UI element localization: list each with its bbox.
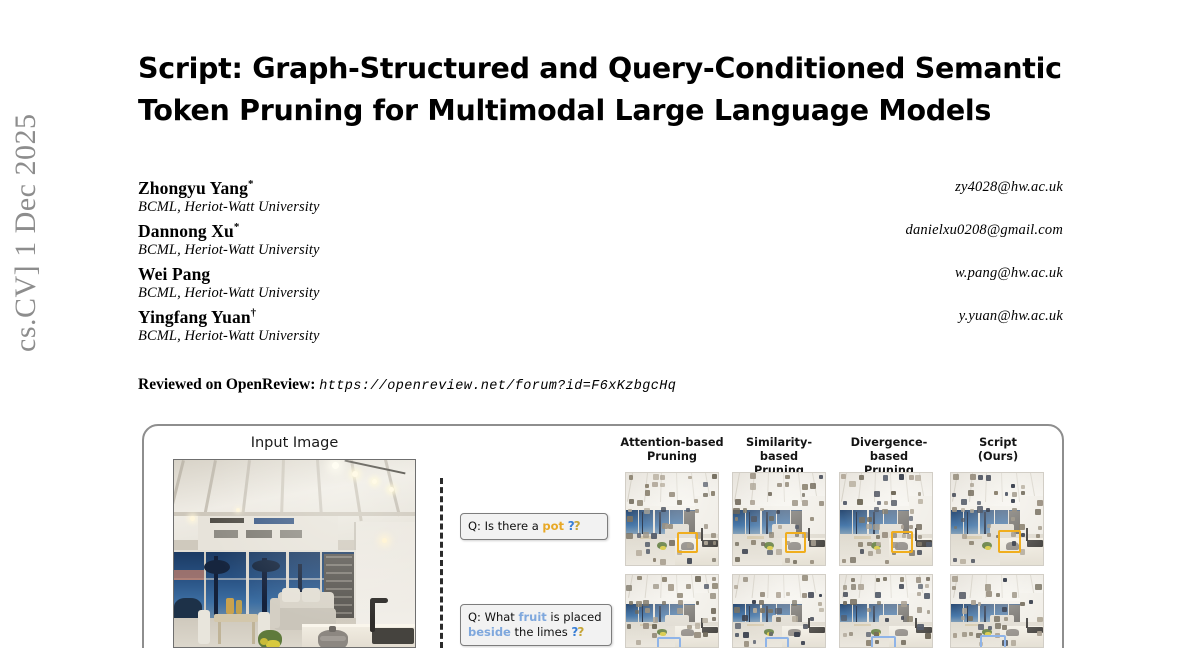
pruned-token (901, 616, 905, 620)
pruned-token (735, 557, 740, 562)
result-tile-divergence-row2 (839, 574, 933, 648)
pruned-token (637, 576, 642, 581)
pruned-token (1029, 600, 1033, 604)
question-suffix: the limes (511, 625, 568, 639)
author-name: Wei Pang (138, 264, 210, 284)
pruned-token (668, 584, 674, 590)
pruned-token (883, 475, 888, 480)
author-name: Zhongyu Yang* (138, 178, 254, 198)
pruned-token (761, 542, 765, 546)
pruned-token (652, 633, 657, 638)
pruned-token (867, 542, 871, 546)
pruned-token (792, 600, 798, 606)
author-block: Zhongyu Yang* zy4028@hw.ac.uk BCML, Heri… (138, 178, 1063, 350)
pruned-token (968, 616, 973, 621)
pruned-token (629, 475, 633, 479)
pruned-token (1038, 526, 1042, 530)
pruned-token (985, 584, 991, 590)
pruned-token (969, 632, 973, 636)
pruned-token (918, 535, 922, 539)
pruned-token (977, 501, 981, 505)
pruned-token (768, 609, 773, 614)
pruned-token (901, 525, 905, 529)
pruned-token (743, 508, 747, 512)
pruned-token (952, 507, 957, 512)
author-affiliation: BCML, Heriot-Watt University (138, 199, 1063, 221)
author-marker: * (234, 221, 240, 233)
highlight-box-fruit (980, 635, 1005, 648)
pruned-token (778, 525, 782, 529)
pruned-token (661, 507, 666, 512)
pruned-token (660, 483, 665, 488)
pruned-token (994, 491, 998, 495)
author-email[interactable]: y.yuan@hw.ac.uk (959, 308, 1063, 325)
pruned-token (712, 474, 717, 479)
highlight-box-fruit (765, 637, 788, 648)
pruned-token (752, 600, 756, 604)
pruned-token (961, 499, 967, 505)
pruned-token (627, 624, 631, 628)
pruned-token (704, 541, 708, 545)
pruned-token (994, 616, 999, 621)
pruned-token (802, 593, 807, 598)
pruned-token (918, 499, 924, 505)
pruned-token (786, 592, 790, 596)
result-tile-script-row2 (950, 574, 1044, 648)
pruned-token (962, 608, 968, 614)
pruned-token (792, 616, 798, 622)
question-keyword-2: beside (468, 625, 511, 639)
pruned-token (1035, 509, 1041, 515)
pruned-token (909, 516, 913, 520)
pruned-token (776, 617, 782, 623)
page-title: Script: Graph-Structured and Query-Condi… (138, 48, 1066, 132)
pruned-token (753, 640, 757, 644)
pruned-token (917, 607, 922, 612)
pruned-token (917, 542, 921, 546)
pruned-token (876, 542, 880, 546)
pruned-token (652, 624, 657, 629)
pruned-token (704, 584, 709, 589)
pruned-token (1004, 617, 1008, 621)
pruned-token (637, 500, 643, 506)
pruned-token (696, 601, 700, 605)
pruned-token (926, 542, 931, 547)
pruned-token (660, 559, 666, 565)
pruned-token (978, 475, 983, 480)
pruned-token (751, 516, 757, 522)
pruned-token (961, 508, 965, 512)
pruned-token (918, 584, 923, 589)
pruned-token (750, 483, 756, 489)
pruned-token (843, 601, 847, 605)
pruned-token (703, 482, 708, 487)
pruned-token (769, 632, 773, 636)
pruned-token (677, 500, 682, 505)
pruned-token (986, 475, 992, 481)
pruned-token (645, 608, 650, 613)
pruned-token (643, 623, 649, 629)
pruned-token (653, 558, 657, 562)
pruned-token (876, 578, 880, 582)
pruned-token (644, 508, 650, 514)
pruned-token (626, 585, 632, 591)
pruned-token (924, 593, 930, 599)
pruned-token (857, 499, 863, 505)
pruned-token (916, 577, 921, 582)
pruned-token (884, 501, 888, 505)
pruned-token (952, 493, 956, 497)
pruned-token (767, 550, 772, 555)
pruned-token (629, 499, 634, 504)
pruned-token (733, 508, 739, 514)
pruned-token (819, 608, 824, 613)
pruned-token (987, 524, 991, 528)
pruned-token (811, 540, 816, 545)
pruned-token (1035, 584, 1041, 590)
pruned-token (843, 585, 847, 589)
pruned-token (802, 493, 806, 497)
pruned-token (818, 602, 822, 606)
pruned-token (802, 500, 808, 506)
pruned-token (636, 550, 642, 556)
pruned-token (867, 608, 871, 612)
pruned-token (849, 481, 855, 487)
pruned-token (953, 474, 959, 480)
column-header-script-ours: Script (Ours) (948, 436, 1048, 464)
pruned-token (843, 592, 848, 597)
pruned-token (760, 508, 764, 512)
pruned-token (819, 594, 823, 598)
pruned-token (743, 577, 748, 582)
author-name: Dannong Xu* (138, 221, 239, 241)
pruned-token (996, 593, 1000, 597)
pruned-token (703, 493, 707, 497)
highlight-box-pot (998, 530, 1021, 553)
question-mark-icon: ?? (568, 519, 580, 533)
pruned-token (795, 525, 799, 529)
pruned-token (842, 559, 846, 563)
question-prefix: Q: What (468, 610, 518, 624)
pruned-token (961, 518, 965, 522)
pruned-token (917, 550, 922, 555)
pruned-token (1002, 607, 1007, 612)
pruned-token (643, 532, 649, 538)
pruned-token (626, 533, 632, 539)
pruned-token (750, 473, 756, 479)
pruned-token (712, 577, 716, 581)
pruned-token (810, 517, 814, 521)
pruned-token (916, 524, 922, 530)
author-row: Dannong Xu* danielxu0208@gmail.com (138, 221, 1063, 242)
question-middle: is placed (547, 610, 602, 624)
highlight-box-fruit (657, 637, 680, 648)
pruned-token (901, 640, 906, 645)
pruned-token (775, 608, 781, 614)
result-tile-script-row1 (950, 472, 1044, 566)
pruned-token (876, 549, 881, 554)
pruned-token (627, 516, 633, 522)
pruned-token (1012, 492, 1017, 497)
question-mark-icon: ?? (571, 625, 583, 639)
pruned-token (885, 618, 889, 622)
author-marker: * (248, 178, 254, 190)
pruned-token (808, 592, 814, 598)
pruned-token (735, 499, 741, 505)
pruned-token (988, 626, 992, 630)
pruned-token (742, 549, 748, 555)
question-keyword: pot (542, 519, 564, 533)
pruned-token (802, 575, 808, 581)
pruned-token (907, 616, 913, 622)
pruned-token (753, 608, 758, 613)
pruned-token (962, 534, 967, 539)
pruned-token (971, 600, 976, 605)
author-affiliation: BCML, Heriot-Watt University (138, 328, 1063, 350)
pruned-token (859, 517, 865, 523)
pruned-token (819, 475, 823, 479)
pruned-token (695, 509, 699, 513)
input-image-photo (173, 459, 416, 648)
pruned-token (851, 578, 855, 582)
pruned-token (926, 577, 930, 581)
pruned-token (1020, 602, 1024, 606)
pruned-token (710, 593, 716, 599)
pruned-token (662, 523, 668, 529)
author-name: Yingfang Yuan† (138, 307, 256, 327)
pruned-token (645, 484, 649, 488)
result-tile-attention-row1 (625, 472, 719, 566)
pruned-token (917, 624, 923, 630)
pruned-token (1002, 625, 1007, 630)
pruned-token (885, 560, 889, 564)
pruned-token (909, 525, 914, 530)
pruned-token (927, 610, 931, 614)
pruned-token (891, 500, 897, 506)
pruned-token (961, 616, 965, 620)
pruned-token (866, 632, 871, 637)
pruned-token (785, 482, 790, 487)
pruned-token (909, 475, 914, 480)
author-marker: † (251, 307, 257, 319)
pruned-token (1012, 508, 1017, 513)
pruned-token (873, 524, 879, 530)
pruned-token (1011, 640, 1016, 645)
pruned-token (917, 592, 921, 596)
author-row: Wei Pang w.pang@hw.ac.uk (138, 264, 1063, 285)
highlight-box-pot (891, 531, 914, 554)
pruned-token (703, 632, 708, 637)
pruned-token (925, 584, 929, 588)
pruned-token (662, 577, 667, 582)
pruned-token (694, 499, 698, 503)
pruned-token (875, 592, 881, 598)
pruned-token (968, 490, 974, 496)
pruned-token (735, 623, 741, 629)
pruned-token (1021, 533, 1025, 537)
pruned-token (850, 557, 856, 563)
pruned-token (1037, 631, 1042, 636)
author-email[interactable]: w.pang@hw.ac.uk (955, 265, 1063, 282)
pruned-token (910, 509, 915, 514)
result-tile-similarity-row2 (732, 574, 826, 648)
pruned-token (776, 510, 780, 514)
pruned-token (899, 474, 905, 480)
pruned-token (769, 516, 773, 520)
pruned-token (971, 559, 975, 563)
pruned-token (819, 501, 824, 506)
pruned-token (702, 618, 707, 623)
result-tile-divergence-row1 (839, 472, 933, 566)
pruned-token (882, 509, 888, 515)
pruned-token (734, 585, 738, 589)
pruned-token (652, 482, 658, 488)
highlight-box-fruit (871, 636, 895, 648)
pruned-token (978, 624, 984, 630)
input-image-label: Input Image (222, 435, 367, 451)
pruned-token (925, 633, 931, 639)
pruned-token (977, 506, 983, 512)
pruned-token (686, 508, 690, 512)
highlight-box-pot (677, 532, 699, 554)
pruned-token (785, 475, 790, 480)
pruned-token (735, 542, 739, 546)
pruned-token (1021, 485, 1025, 489)
pruned-token (653, 584, 659, 590)
result-tile-similarity-row1 (732, 472, 826, 566)
pruned-token (678, 600, 683, 605)
question-bubble-pot: Q: Is there a pot ?? (460, 513, 608, 540)
pruned-token (645, 542, 651, 548)
author-email[interactable]: zy4028@hw.ac.uk (955, 179, 1063, 196)
pruned-token (760, 592, 765, 597)
pruned-token (876, 535, 880, 539)
author-email[interactable]: danielxu0208@gmail.com (906, 222, 1063, 239)
author-affiliation: BCML, Heriot-Watt University (138, 242, 1063, 264)
pruned-token (668, 524, 673, 529)
pruned-token (1011, 517, 1015, 521)
pruned-token (877, 501, 881, 505)
pruned-token (843, 633, 847, 637)
pruned-token (635, 610, 639, 614)
pruned-token (970, 483, 974, 487)
pruned-token (711, 491, 715, 495)
pruned-token (645, 490, 651, 496)
pruned-token (759, 600, 764, 605)
pruned-token (704, 524, 709, 529)
pruned-token (962, 632, 967, 637)
pruned-token (751, 540, 756, 545)
pruned-token (858, 584, 864, 590)
question-bubble-fruit: Q: What fruit is placed beside the limes… (460, 604, 612, 646)
pruned-token (688, 476, 692, 480)
pruned-token (860, 549, 865, 554)
pruned-token (776, 549, 782, 555)
pruned-token (802, 484, 808, 490)
pruned-token (713, 541, 717, 545)
pruned-token (899, 584, 904, 589)
pruned-token (742, 615, 748, 621)
pruned-token (794, 632, 799, 637)
pruned-token (669, 492, 674, 497)
pruned-token (750, 500, 755, 505)
pruned-token (793, 560, 797, 564)
pruned-token (953, 633, 958, 638)
pruned-token (859, 475, 864, 480)
reviewed-on-openreview: Reviewed on OpenReview: https://openrevi… (138, 376, 676, 394)
pruned-token (735, 633, 739, 637)
pruned-token (858, 542, 863, 547)
pruned-token (792, 500, 798, 506)
pruned-token (803, 624, 808, 629)
pruned-token (995, 623, 1000, 628)
paper-page: cs.CV] 1 Dec 2025 Script: Graph-Structur… (0, 0, 1200, 648)
pruned-token (712, 558, 716, 562)
pruned-token (1003, 578, 1007, 582)
pruned-token (743, 632, 749, 638)
pruned-token (801, 641, 805, 645)
pruned-token (952, 576, 958, 582)
pruned-token (662, 601, 666, 605)
pruned-token (677, 608, 683, 614)
pruned-token (643, 600, 649, 606)
pruned-token (629, 601, 633, 605)
pruned-token (760, 608, 765, 613)
pruned-token (653, 474, 659, 480)
openreview-link[interactable]: https://openreview.net/forum?id=F6xKzbgc… (319, 379, 676, 394)
pruned-token (986, 591, 992, 597)
pruned-token (866, 524, 872, 530)
pruned-token (687, 625, 691, 629)
arxiv-stamp: cs.CV] 1 Dec 2025 (0, 4, 52, 352)
pruned-token (1036, 534, 1040, 538)
pruned-token (851, 584, 857, 590)
pruned-token (785, 558, 790, 563)
result-tile-attention-row2 (625, 574, 719, 648)
pruned-token (986, 508, 990, 512)
pruned-token (1021, 491, 1025, 495)
question-keyword: fruit (518, 610, 546, 624)
pruned-token (868, 551, 873, 556)
pruned-token (677, 593, 683, 599)
pruned-token (874, 507, 879, 512)
pruned-token (953, 558, 957, 562)
pruned-token (841, 474, 846, 479)
pruned-token (970, 474, 976, 480)
pruned-token (776, 592, 782, 598)
pruned-token (882, 532, 888, 538)
pruned-token (636, 601, 642, 607)
pruned-token (883, 577, 887, 581)
pruned-token (969, 541, 973, 545)
pruned-token (810, 617, 814, 621)
pruned-token (653, 617, 658, 622)
pruned-token (915, 475, 921, 481)
author-row: Yingfang Yuan† y.yuan@hw.ac.uk (138, 307, 1063, 328)
pruned-token (712, 583, 718, 589)
reviewed-label: Reviewed on OpenReview: (138, 376, 315, 393)
pruned-token (877, 601, 881, 605)
pruned-token (891, 491, 895, 495)
pruned-token (744, 641, 749, 646)
pruned-token (900, 577, 905, 582)
pruned-token (686, 584, 691, 589)
pruned-token (1037, 500, 1043, 506)
pruned-token (901, 601, 907, 607)
author-row: Zhongyu Yang* zy4028@hw.ac.uk (138, 178, 1063, 199)
pruned-token (628, 509, 632, 513)
highlight-box-pot (785, 532, 807, 554)
